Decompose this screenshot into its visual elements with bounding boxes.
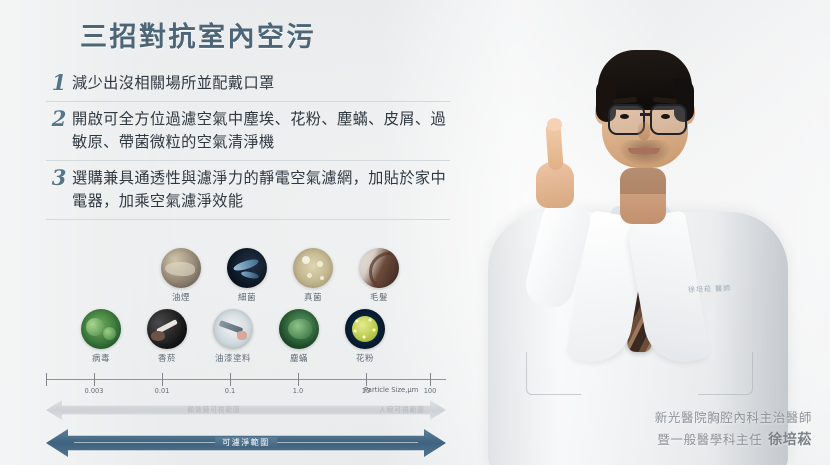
tips-list: 1 減少出沒相關場所並配戴口罩 2 開啟可全方位過濾空氣中塵埃、花粉、塵蟎、皮屑… [46,66,450,220]
tip-number: 3 [46,167,72,189]
tip-text: 選購兼具通透性與濾淨力的靜電空氣濾網，加貼於家中電器，加乘空氣濾淨效能 [72,167,450,213]
tip-text: 開啟可全方位過濾空氣中塵埃、花粉、塵蟎、皮屑、過敏原、帶菌微粒的空氣清淨機 [72,108,450,154]
credit-title: 暨一般醫學科主任 [657,433,762,447]
dust-mite-icon [279,309,319,349]
tip-number: 1 [46,72,72,94]
axis-tick-label: 1.0 [293,387,304,395]
particle-item: 病毒 [68,309,134,364]
fungus-icon [293,248,333,288]
bacteria-icon [227,248,267,288]
axis-tick-label: 100 [424,387,437,395]
particle-icon-grid: 油煙 細菌 真菌 毛髮 病毒 [46,248,446,364]
infographic-stage: 三招對抗室內空污 1 減少出沒相關場所並配戴口罩 2 開啟可全方位過濾空氣中塵埃… [0,0,830,465]
particle-item: 油漆塗料 [200,309,266,364]
oil-smoke-icon [161,248,201,288]
particle-label: 真菌 [280,291,346,303]
microscope-range-label: 顯微鏡可視範圍 [187,404,240,414]
filter-range-band: 可濾淨範圍 [46,429,446,457]
particle-label: 細菌 [214,291,280,303]
particle-item: 毛髮 [346,248,412,303]
credit-line-2: 暨一般醫學科主任徐培菘 [655,429,812,451]
virus-icon [81,309,121,349]
paint-icon [213,309,253,349]
pollen-icon [345,309,385,349]
particle-label: 油煙 [148,291,214,303]
list-item: 2 開啟可全方位過濾空氣中塵埃、花粉、塵蟎、皮屑、過敏原、帶菌微粒的空氣清淨機 [46,101,450,160]
credit-line-1: 新光醫院胸腔內科主治醫師 [655,408,812,429]
particle-label: 塵蟎 [266,352,332,364]
doctor-photo: 徐培菘 醫師 [452,0,830,465]
list-item: 3 選購兼具通透性與濾淨力的靜電空氣濾網，加貼於家中電器，加乘空氣濾淨效能 [46,160,450,220]
particle-label: 油漆塗料 [200,352,266,364]
filter-range-label: 可濾淨範圍 [215,437,277,448]
particle-label: 毛髮 [346,291,412,303]
list-item: 1 減少出沒相關場所並配戴口罩 [46,66,450,101]
particle-label: 病毒 [68,352,134,364]
particle-size-scale: 0.003 0.01 0.1 1.0 10 100 Particle Size,… [46,372,446,457]
particle-item: 油煙 [148,248,214,303]
particle-item: 細菌 [214,248,280,303]
coat-embroidery: 徐培菘 醫師 [688,283,744,295]
visibility-range-band: 顯微鏡可視範圍 人眼可視範圍 [46,400,446,420]
axis-line [46,379,446,380]
axis-tick-label: 0.003 [85,387,104,395]
scale-axis: 0.003 0.01 0.1 1.0 10 100 Particle Size,… [46,372,446,388]
doctor-illustration: 徐培菘 醫師 [452,0,830,465]
tip-text: 減少出沒相關場所並配戴口罩 [72,72,450,95]
eye-range-label: 人眼可視範圍 [379,404,425,414]
content-panel: 三招對抗室內空污 1 減少出沒相關場所並配戴口罩 2 開啟可全方位過濾空氣中塵埃… [0,0,470,465]
page-title: 三招對抗室內空污 [80,24,316,51]
particle-item: 花粉 [332,309,398,364]
cigarette-icon [147,309,187,349]
axis-tick-label: 0.1 [225,387,236,395]
axis-tick-label: 0.01 [155,387,170,395]
particle-row-1: 油煙 細菌 真菌 毛髮 [46,248,446,303]
doctor-name: 徐培菘 [768,431,812,447]
particle-label: 香菸 [134,352,200,364]
doctor-credits: 新光醫院胸腔內科主治醫師 暨一般醫學科主任徐培菘 [655,408,812,451]
particle-label: 花粉 [332,352,398,364]
particle-item: 真菌 [280,248,346,303]
tip-number: 2 [46,108,72,130]
particle-row-2: 病毒 香菸 油漆塗料 塵蟎 花粉 [46,309,446,364]
hair-icon [359,248,399,288]
axis-unit-label: Particle Size,μm [364,386,418,394]
particle-item: 香菸 [134,309,200,364]
particle-item: 塵蟎 [266,309,332,364]
